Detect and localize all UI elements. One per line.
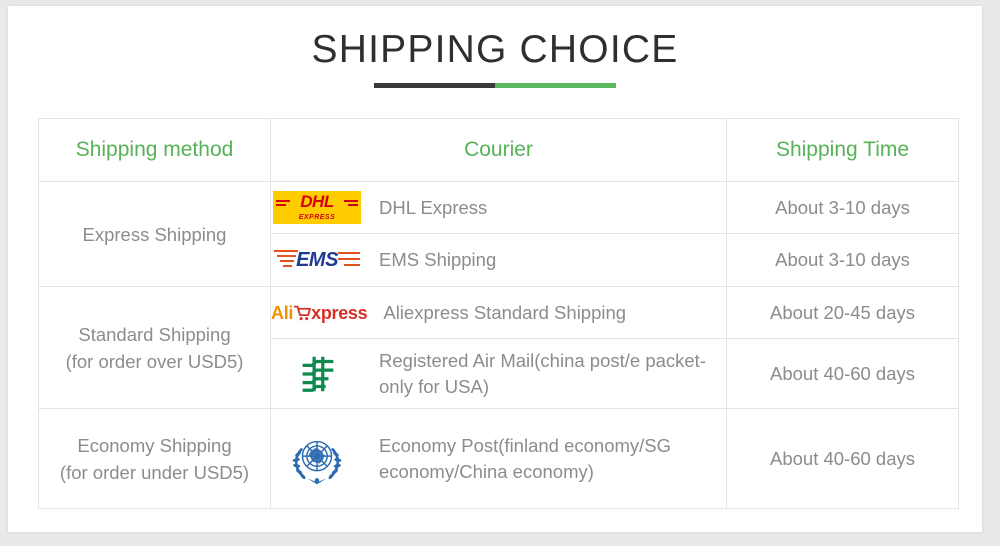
dhl-logo-text: DHL — [273, 192, 361, 211]
title-underline-dark-segment — [374, 83, 495, 88]
time-cell: About 20-45 days — [727, 287, 959, 339]
united-nations-logo — [271, 428, 363, 490]
column-header-shipping-time: Shipping Time — [727, 119, 959, 182]
courier-name: Economy Post(finland economy/SG economy/… — [379, 433, 726, 485]
time-cell: About 3-10 days — [727, 182, 959, 234]
method-label: Express Shipping — [39, 221, 270, 248]
method-note: (for order under USD5) — [39, 459, 270, 486]
method-note: (for order over USD5) — [39, 348, 270, 375]
title-underline — [374, 83, 616, 88]
column-header-shipping-method: Shipping method — [39, 119, 271, 182]
courier-name: Registered Air Mail(china post/e packet-… — [379, 348, 726, 400]
dhl-logo: DHL EXPRESS — [271, 191, 363, 224]
time-cell: About 40-60 days — [727, 409, 959, 509]
content-card: SHIPPING CHOICE Shipping method Courier … — [8, 6, 982, 532]
table-row: Express Shipping DHL — [39, 182, 959, 234]
method-cell-express: Express Shipping — [39, 182, 271, 287]
courier-cell-china-post: Registered Air Mail(china post/e packet-… — [271, 339, 727, 409]
ems-logo: EMS — [271, 245, 363, 275]
method-cell-economy: Economy Shipping (for order under USD5) — [39, 409, 271, 509]
time-cell: About 3-10 days — [727, 234, 959, 287]
table-header-row: Shipping method Courier Shipping Time — [39, 119, 959, 182]
courier-name: DHL Express — [379, 195, 487, 221]
page-root: SHIPPING CHOICE Shipping method Courier … — [0, 0, 1000, 546]
china-post-logo — [271, 351, 363, 397]
shopping-cart-icon — [294, 305, 311, 321]
united-nations-icon — [286, 428, 348, 490]
page-title: SHIPPING CHOICE — [8, 30, 982, 69]
courier-cell-dhl: DHL EXPRESS DHL Express — [271, 182, 727, 234]
china-post-icon — [294, 351, 340, 397]
table-row: Standard Shipping (for order over USD5) … — [39, 287, 959, 339]
courier-cell-aliexpress: Ali xpress Aliexpress Standard Ship — [271, 287, 727, 339]
courier-name: EMS Shipping — [379, 247, 496, 273]
aliexpress-logo-text-xpress: xpress — [311, 303, 367, 323]
courier-name: Aliexpress Standard Shipping — [383, 300, 626, 326]
dhl-logo-subtext: EXPRESS — [273, 214, 361, 222]
aliexpress-logo-text-ali: Ali — [271, 303, 293, 323]
courier-cell-economy-post: Economy Post(finland economy/SG economy/… — [271, 409, 727, 509]
ems-logo-text: EMS — [296, 250, 338, 270]
time-cell: About 40-60 days — [727, 339, 959, 409]
title-underline-green-segment — [495, 83, 616, 88]
method-cell-standard: Standard Shipping (for order over USD5) — [39, 287, 271, 409]
aliexpress-logo: Ali xpress — [271, 303, 367, 323]
column-header-courier: Courier — [271, 119, 727, 182]
courier-cell-ems: EMS EMS Shipping — [271, 234, 727, 287]
table-row: Economy Shipping (for order under USD5) — [39, 409, 959, 509]
method-label: Standard Shipping — [39, 321, 270, 348]
shipping-choice-table: Shipping method Courier Shipping Time Ex… — [38, 118, 959, 509]
page-title-block: SHIPPING CHOICE — [8, 30, 982, 88]
method-label: Economy Shipping — [39, 432, 270, 459]
